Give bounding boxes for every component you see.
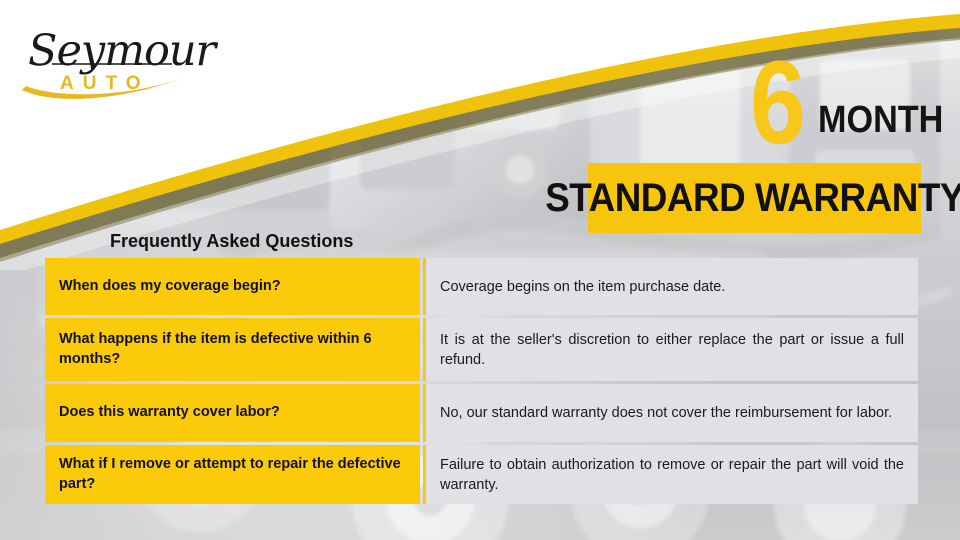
- logo[interactable]: Seymour AUTO: [16, 16, 196, 108]
- faq-answer-text: Coverage begins on the item purchase dat…: [440, 277, 904, 297]
- faq-question-cell: Does this warranty cover labor?: [45, 384, 420, 442]
- faq-question-cell: When does my coverage begin?: [45, 258, 420, 315]
- faq-question-text: Does this warranty cover labor?: [59, 403, 280, 422]
- faq-question-text: What happens if the item is defective wi…: [59, 330, 404, 369]
- faq-answer-cell: No, our standard warranty does not cover…: [423, 384, 918, 442]
- warranty-duration-unit: MONTH: [818, 101, 943, 139]
- faq-answer-cell: Failure to obtain authorization to remov…: [423, 445, 918, 504]
- standard-warranty-banner: STANDARD WARRANTY: [588, 163, 921, 233]
- logo-auto-text: AUTO: [60, 73, 149, 95]
- faq-answer-cell: It is at the seller's discretion to eith…: [423, 318, 918, 381]
- table-row: What happens if the item is defective wi…: [45, 318, 918, 381]
- faq-answer-text: It is at the seller's discretion to eith…: [440, 330, 904, 370]
- faq-question-text: When does my coverage begin?: [59, 277, 281, 296]
- table-row: Does this warranty cover labor? No, our …: [45, 384, 918, 442]
- faq-question-text: What if I remove or attempt to repair th…: [59, 455, 404, 494]
- faq-heading: Frequently Asked Questions: [110, 231, 353, 252]
- warranty-duration-number: 6: [750, 44, 804, 162]
- warranty-slide: Seymour AUTO 6 MONTH STANDARD WARRANTY F…: [0, 0, 960, 540]
- faq-table: When does my coverage begin? Coverage be…: [45, 258, 918, 504]
- faq-answer-cell: Coverage begins on the item purchase dat…: [423, 258, 918, 315]
- table-row: When does my coverage begin? Coverage be…: [45, 258, 918, 315]
- faq-answer-text: Failure to obtain authorization to remov…: [440, 455, 904, 495]
- logo-script-text: Seymour: [28, 26, 215, 76]
- table-row: What if I remove or attempt to repair th…: [45, 445, 918, 504]
- standard-warranty-banner-text: STANDARD WARRANTY: [545, 178, 960, 218]
- faq-question-cell: What if I remove or attempt to repair th…: [45, 445, 420, 504]
- faq-question-cell: What happens if the item is defective wi…: [45, 318, 420, 381]
- faq-answer-text: No, our standard warranty does not cover…: [440, 403, 904, 423]
